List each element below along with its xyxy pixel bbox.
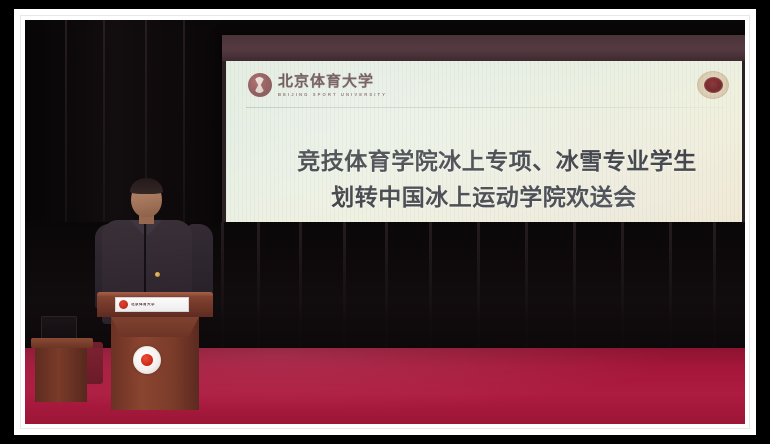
slide-title-line-1: 竞技体育学院冰上专项、冰雪专业学生 [239, 145, 742, 181]
ceremony-photograph: 北京体育大学 BEIJING SPORT UNIVERSITY 竞技体育学院冰上… [25, 20, 745, 424]
podium-nameplate: 北京体育大学 [115, 297, 189, 312]
logo-english-name: BEIJING SPORT UNIVERSITY [278, 92, 387, 97]
bsu-round-emblem-icon [133, 346, 161, 374]
podium-desktop-edge [97, 292, 213, 296]
podium-nameplate-text: 北京体育大学 [131, 303, 155, 307]
slide-university-logo: 北京体育大学 BEIJING SPORT UNIVERSITY [248, 73, 387, 97]
podium: 北京体育大学 [97, 292, 213, 410]
side-table-body [35, 348, 87, 402]
bsu-swoosh-logo-icon [119, 300, 128, 309]
slide-header-divider [246, 107, 724, 108]
side-table [31, 316, 93, 402]
speaker-hair [130, 178, 163, 194]
speaker-and-podium: 北京体育大学 [85, 180, 225, 410]
logo-chinese-name: 北京体育大学 [278, 74, 387, 89]
side-table-top [31, 338, 93, 348]
screen-valance [222, 35, 745, 61]
lapel-pin-icon [155, 272, 160, 277]
podium-desktop: 北京体育大学 [97, 292, 213, 317]
slide-title-line-2: 划转中国冰上运动学院欢送会 [226, 181, 742, 217]
bsu-swoosh-logo-icon [248, 73, 272, 97]
university-round-seal-icon [697, 71, 729, 99]
slide-title-block: 竞技体育学院冰上专项、冰雪专业学生 划转中国冰上运动学院欢送会 [226, 145, 742, 216]
podium-taper [111, 317, 199, 337]
framed-photo: 北京体育大学 BEIJING SPORT UNIVERSITY 竞技体育学院冰上… [0, 0, 770, 444]
